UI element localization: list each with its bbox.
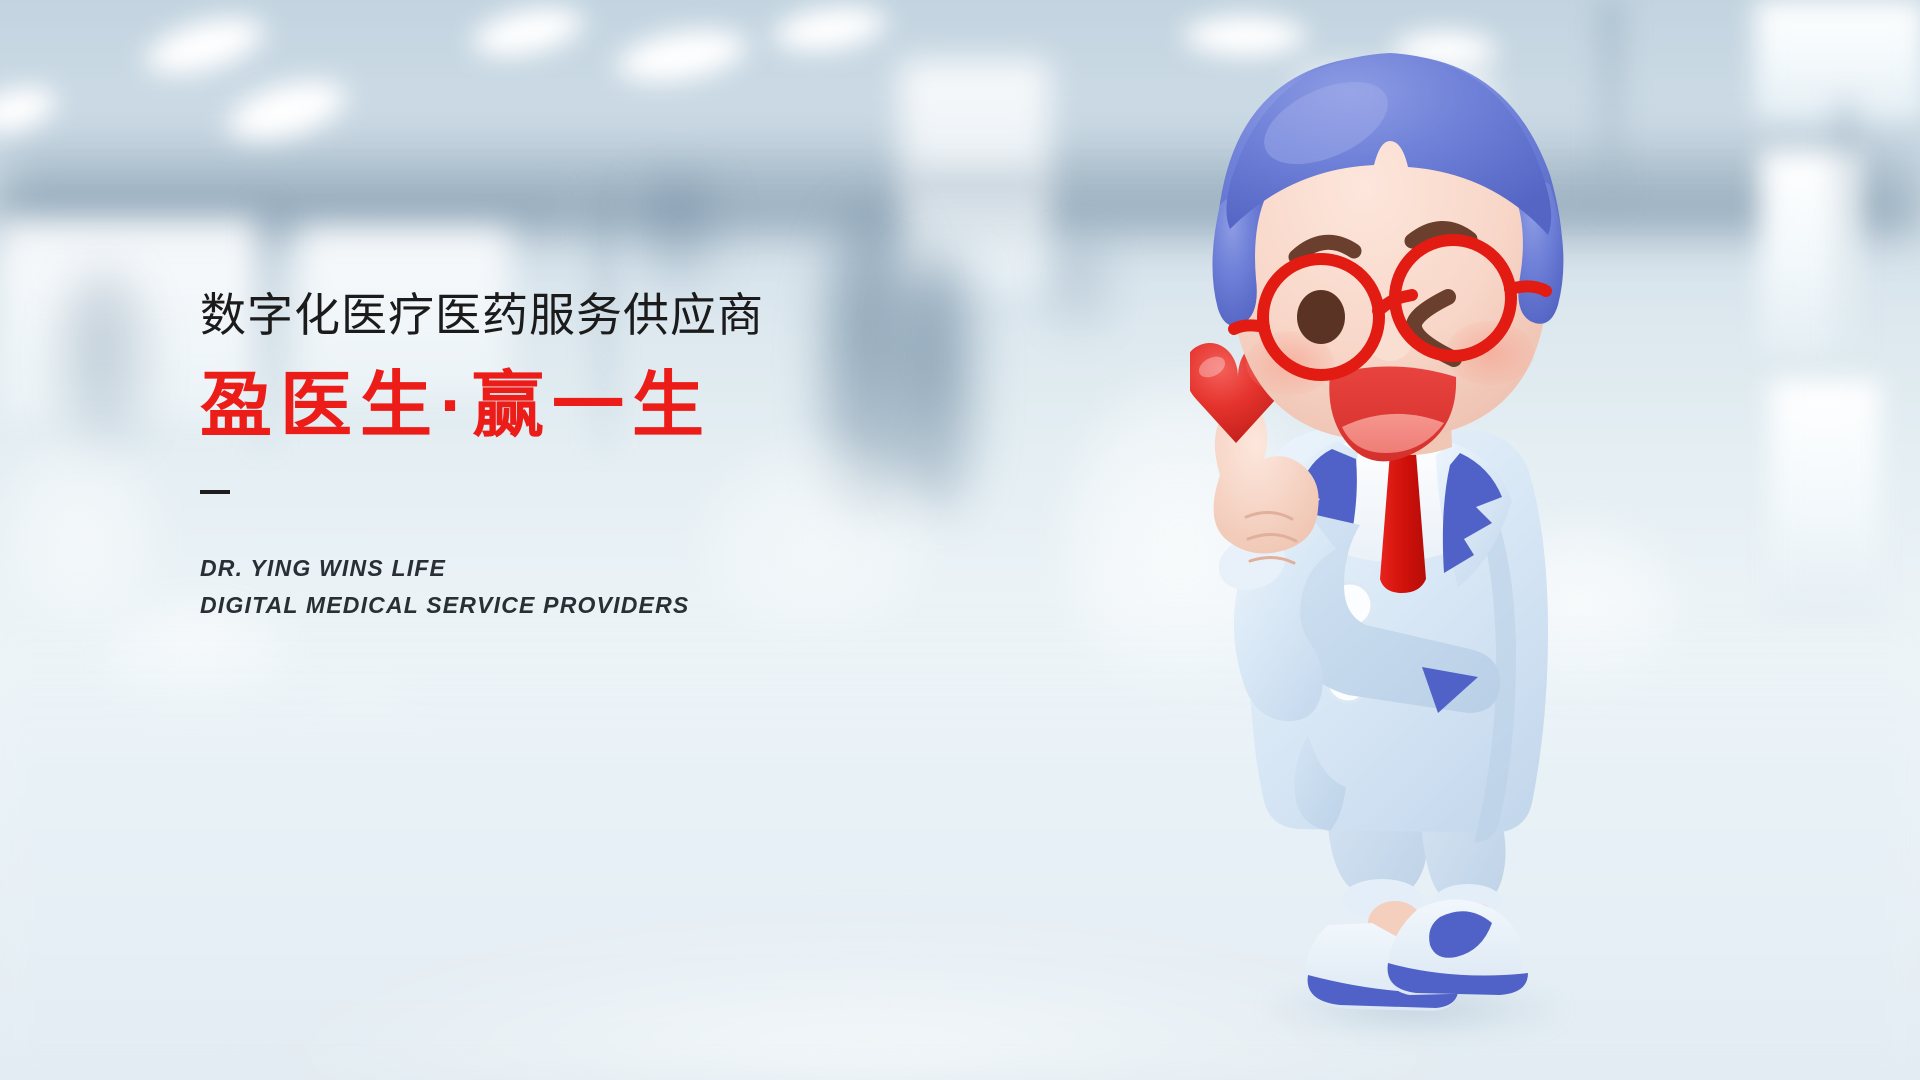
ceiling-light: [135, 3, 274, 89]
wall-panel: [900, 60, 1050, 290]
bokeh-highlight: [300, 680, 420, 790]
ceiling-light: [767, 0, 892, 60]
hero-banner: 数字化医疗医药服务供应商 盈医生·赢一生 DR. YING WINS LIFE …: [0, 0, 1920, 1080]
window-pane: [1755, 0, 1920, 120]
blurred-person: [60, 270, 150, 450]
bokeh-highlight: [0, 430, 160, 630]
blurred-object: [1050, 240, 1110, 330]
english-line-1: DR. YING WINS LIFE: [200, 550, 960, 587]
ceiling-light: [609, 18, 756, 94]
hero-copy: 数字化医疗医药服务供应商 盈医生·赢一生 DR. YING WINS LIFE …: [200, 290, 960, 625]
mascot-shoes: [1306, 899, 1528, 1011]
ceiling-light: [217, 66, 357, 155]
hero-headline: 盈医生·赢一生: [200, 366, 960, 447]
english-line-2: DIGITAL MEDICAL SERVICE PROVIDERS: [200, 587, 960, 624]
doctor-mascot-illustration: [1190, 45, 1670, 1045]
shelf-edge: [905, 175, 1045, 197]
window-pane: [1770, 380, 1880, 620]
english-subtitle-block: DR. YING WINS LIFE DIGITAL MEDICAL SERVI…: [200, 550, 960, 625]
ceiling-light: [464, 0, 591, 68]
hero-subtitle: 数字化医疗医药服务供应商: [200, 290, 960, 342]
ceiling-light: [0, 76, 64, 143]
window-pane: [1760, 150, 1860, 355]
window-frame: [1838, 100, 1854, 350]
divider-rule: [200, 490, 230, 494]
mascot-eye-open: [1297, 290, 1345, 344]
counter-edge: [0, 196, 560, 222]
blurred-object: [640, 175, 720, 285]
